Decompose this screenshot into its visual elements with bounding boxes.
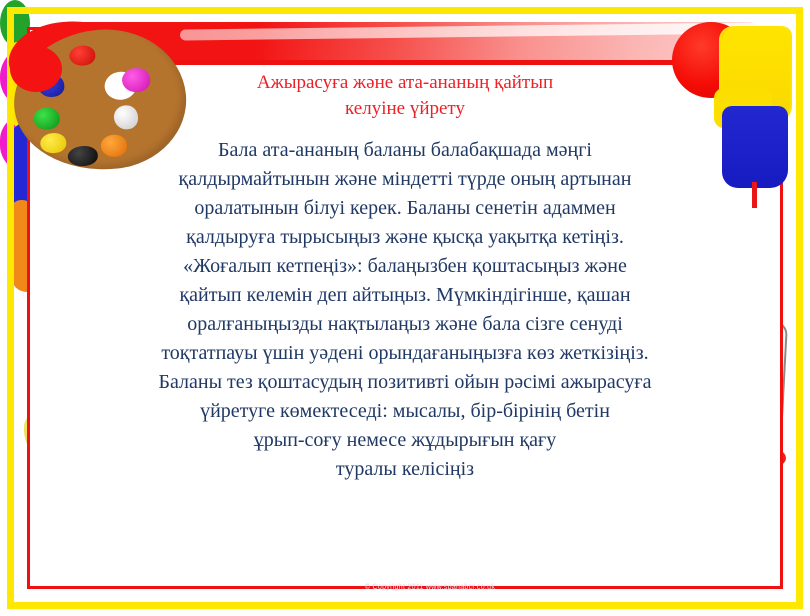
body-line: қалдырмайтынын және міндетті түрде оның … (60, 165, 750, 194)
paint-blob-green-icon (0, 0, 30, 46)
title-line: Ажырасуға және ата-ананың қайтып (60, 70, 750, 96)
page-title: Ажырасуға және ата-ананың қайтып келуіне… (60, 70, 750, 122)
body-line: ұрып-соғу немесе жұдырығын қағу (60, 426, 750, 455)
body-line: қалдыруға тырысыңыз және қысқа уақытқа к… (60, 223, 750, 252)
body-line: оралғаныңызды нақтылаңыз және бала сізге… (60, 310, 750, 339)
body-line: Бала ата-ананың баланы балабақшада мәңгі (60, 136, 750, 165)
copyright-watermark: © Copyright 2011 www.spanabcr.co.uk (330, 584, 530, 596)
body-line: үйретуге көмектеседі: мысалы, бір-біріні… (60, 397, 750, 426)
body-line: «Жоғалып кетпеңіз»: балаңызбен қоштасыңы… (60, 252, 750, 281)
body-line: туралы келісіңіз (60, 455, 750, 484)
title-line: келуіне үйрету (60, 96, 750, 122)
poster-content: Ажырасуға және ата-ананың қайтып келуіне… (60, 70, 750, 484)
body-line: оралатынын білуі керек. Баланы сенетін а… (60, 194, 750, 223)
poster-canvas: Ажырасуға және ата-ананың қайтып келуіне… (0, 0, 810, 616)
body-line: қайтып келемін деп айтыңыз. Мүмкіндігінш… (60, 281, 750, 310)
body-line: тоқтатпауы үшін уәдені орындағаныңызға к… (60, 339, 750, 368)
body-text: Бала ата-ананың баланы балабақшада мәңгі… (60, 136, 750, 484)
body-line: Баланы тез қоштасудың позитивті ойын рәс… (60, 368, 750, 397)
